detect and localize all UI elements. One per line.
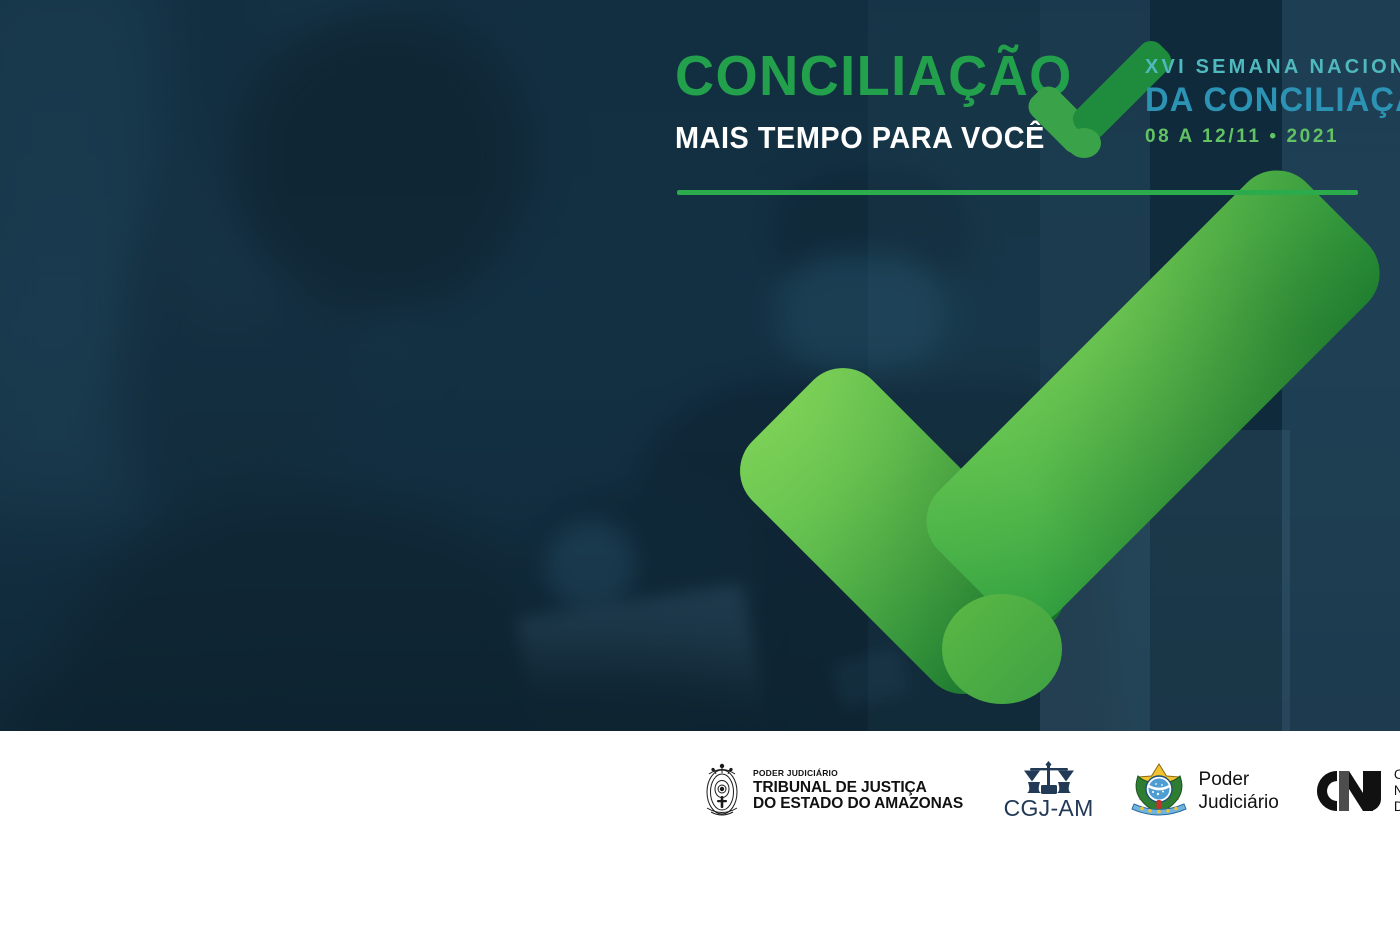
institution-logo-row: PODER JUDICIÁRIO TRIBUNAL DE JUSTIÇA DO …	[700, 756, 1400, 826]
green-divider-rule	[677, 190, 1358, 195]
logo-tjam-line-2: DO ESTADO DO AMAZONAS	[753, 796, 963, 813]
scales-of-justice-icon	[1020, 760, 1078, 794]
logo-cnj-line-2: NACIONAL	[1394, 783, 1400, 799]
campaign-title-block: CONCILIAÇÃO MAIS TEMPO PARA VOCÊ	[675, 45, 1005, 155]
checkmark-elbow	[942, 594, 1062, 704]
logo-tjam: PODER JUDICIÁRIO TRIBUNAL DE JUSTIÇA DO …	[700, 762, 970, 820]
conciliation-campaign-poster: CONCILIAÇÃO MAIS TEMPO PARA VOCÊ XVI SEM…	[0, 0, 1400, 933]
logo-poder-judiciario-line-1: Poder	[1199, 768, 1279, 791]
event-name-line-2: DA CONCILIAÇÃO	[1145, 81, 1375, 119]
event-name-line-1: XVI SEMANA NACIONAL	[1145, 55, 1385, 79]
event-dates: 08 A 12/11 • 2021	[1145, 126, 1385, 148]
hero-photo-band: CONCILIAÇÃO MAIS TEMPO PARA VOCÊ XVI SEM…	[0, 0, 1400, 731]
event-info-block: XVI SEMANA NACIONAL DA CONCILIAÇÃO 08 A …	[1145, 55, 1385, 148]
logo-cnj: CONSELHO NACIONAL DE JUSTIÇA	[1313, 767, 1400, 815]
cnj-monogram-icon	[1313, 769, 1385, 813]
checkmark-icon-small	[1023, 52, 1143, 167]
brazil-coat-of-arms-icon	[1128, 762, 1190, 820]
campaign-lockup: CONCILIAÇÃO MAIS TEMPO PARA VOCÊ XVI SEM…	[675, 45, 1365, 200]
checkmark-icon	[745, 232, 1245, 682]
logo-cnj-line-3: DE JUSTIÇA	[1394, 799, 1400, 815]
logo-tjam-line-1: TRIBUNAL DE JUSTIÇA	[753, 780, 963, 797]
campaign-subtitle: MAIS TEMPO PARA VOCÊ	[675, 121, 982, 155]
tjam-crest-icon	[700, 762, 744, 820]
logo-poder-judiciario: Poder Judiciário	[1128, 762, 1279, 820]
page-title: CONCILIAÇÃO	[675, 45, 989, 107]
checkmark-small-elbow	[1067, 128, 1101, 158]
logo-poder-judiciario-line-2: Judiciário	[1199, 791, 1279, 814]
logo-cgj-am: CGJ-AM	[1004, 760, 1094, 822]
logo-cnj-line-1: CONSELHO	[1394, 767, 1400, 783]
footer-logo-bar: PODER JUDICIÁRIO TRIBUNAL DE JUSTIÇA DO …	[0, 731, 1400, 933]
logo-tjam-kicker: PODER JUDICIÁRIO	[753, 769, 970, 778]
logo-cgj-am-label: CGJ-AM	[1004, 795, 1094, 822]
